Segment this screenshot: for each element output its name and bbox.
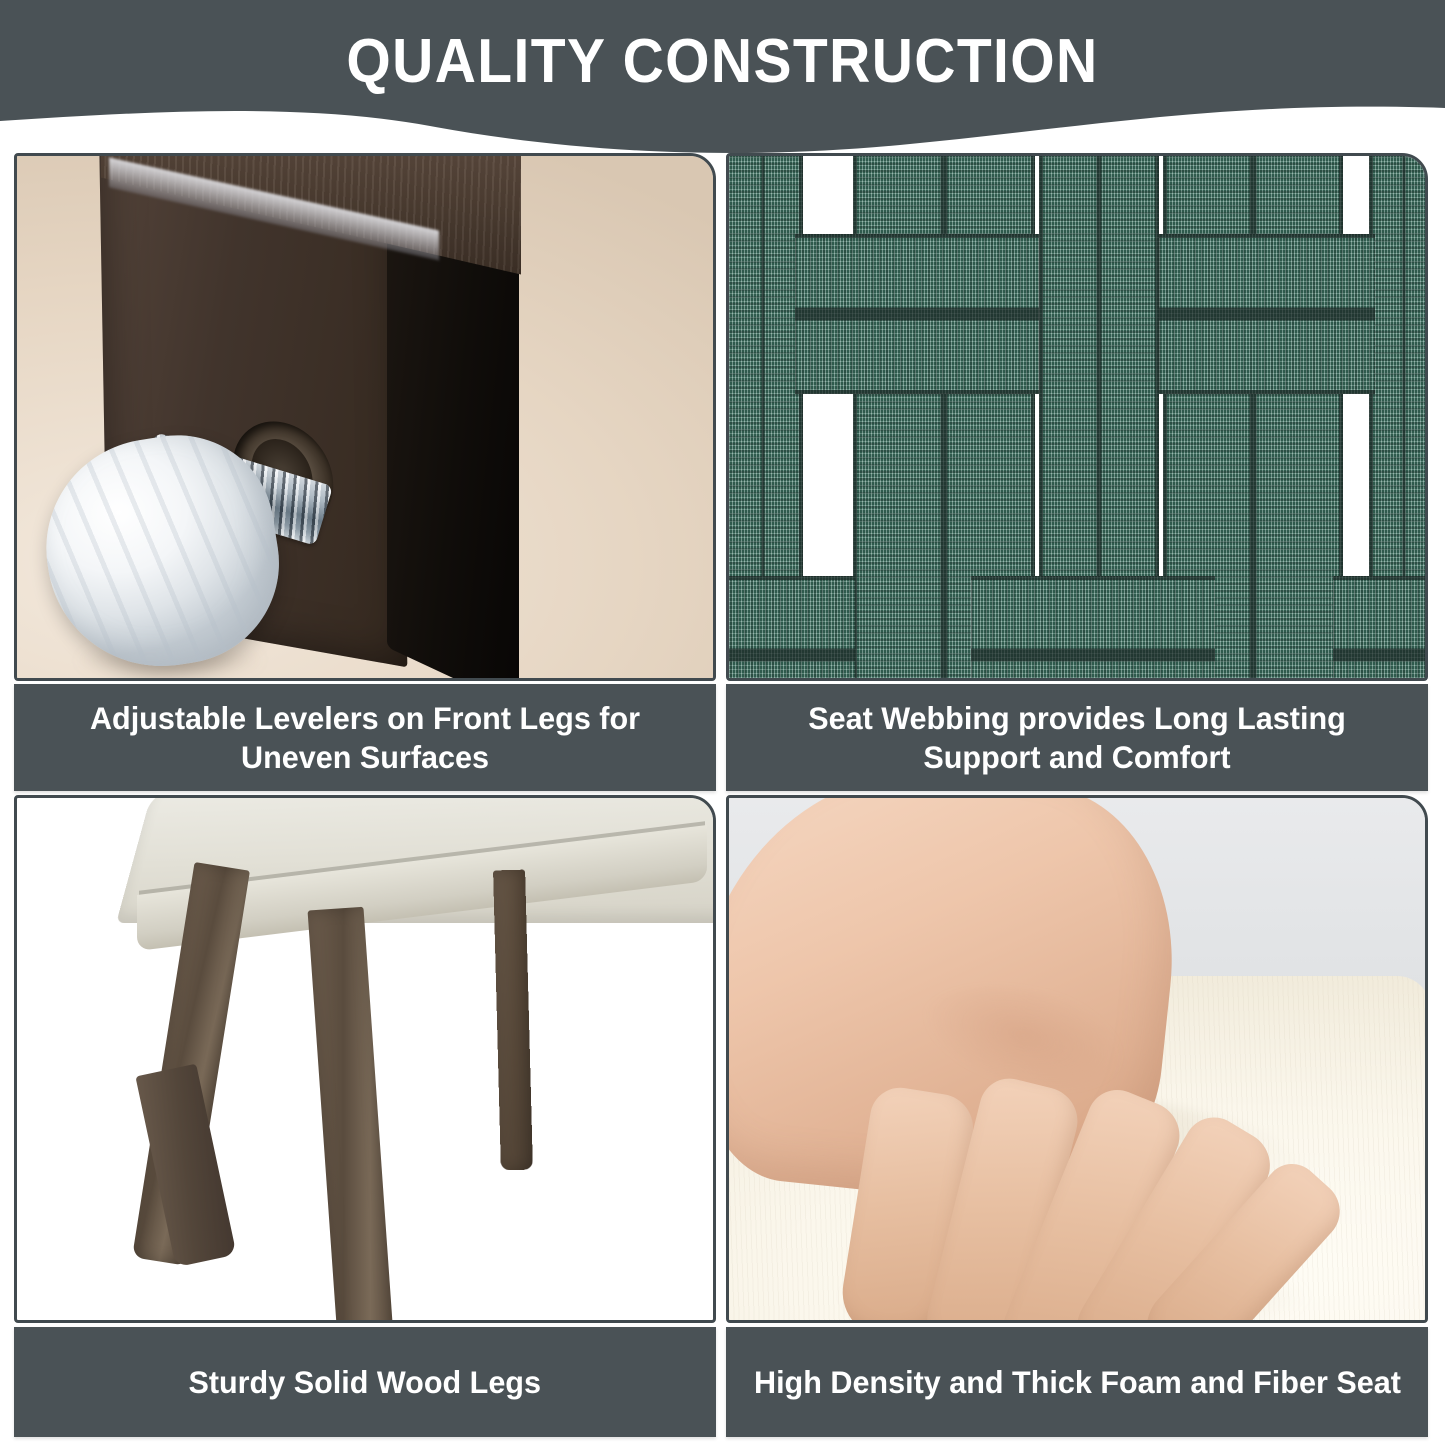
chair-leg-graphic bbox=[17, 153, 716, 681]
chair-leg-center bbox=[308, 907, 403, 1323]
webbing-strap-horizontal bbox=[726, 576, 855, 681]
wood-legs-photo bbox=[14, 795, 716, 1323]
caption-webbing-text: Seat Webbing provides Long Lasting Suppo… bbox=[750, 699, 1404, 777]
webbing-strap-horizontal bbox=[1333, 576, 1428, 681]
feature-card-foam-seat: High Density and Thick Foam and Fiber Se… bbox=[726, 795, 1428, 1437]
webbing-strap-horizontal bbox=[795, 234, 1039, 394]
header-banner: QUALITY CONSTRUCTION bbox=[0, 0, 1445, 165]
webbing-strap-horizontal bbox=[1159, 234, 1375, 394]
infographic-page: QUALITY CONSTRUCTION bbox=[0, 0, 1445, 1445]
caption-levelers-text: Adjustable Levelers on Front Legs for Un… bbox=[38, 699, 692, 777]
feature-card-levelers: Adjustable Levelers on Front Legs for Un… bbox=[14, 153, 716, 788]
foam-seat-photo bbox=[726, 795, 1428, 1323]
feature-grid: Adjustable Levelers on Front Legs for Un… bbox=[0, 150, 1445, 1445]
caption-levelers: Adjustable Levelers on Front Legs for Un… bbox=[14, 684, 716, 791]
feature-card-webbing: Seat Webbing provides Long Lasting Suppo… bbox=[726, 153, 1428, 788]
feature-card-wood-legs: Sturdy Solid Wood Legs bbox=[14, 795, 716, 1437]
levelers-photo bbox=[14, 153, 716, 681]
caption-wood-legs-text: Sturdy Solid Wood Legs bbox=[189, 1363, 542, 1402]
caption-foam-seat: High Density and Thick Foam and Fiber Se… bbox=[726, 1327, 1428, 1437]
webbing-photo bbox=[726, 153, 1428, 681]
caption-wood-legs: Sturdy Solid Wood Legs bbox=[14, 1327, 716, 1437]
webbing-strap-horizontal bbox=[971, 576, 1215, 681]
caption-webbing: Seat Webbing provides Long Lasting Suppo… bbox=[726, 684, 1428, 791]
caption-foam-seat-text: High Density and Thick Foam and Fiber Se… bbox=[754, 1363, 1401, 1402]
page-title: QUALITY CONSTRUCTION bbox=[58, 26, 1387, 98]
